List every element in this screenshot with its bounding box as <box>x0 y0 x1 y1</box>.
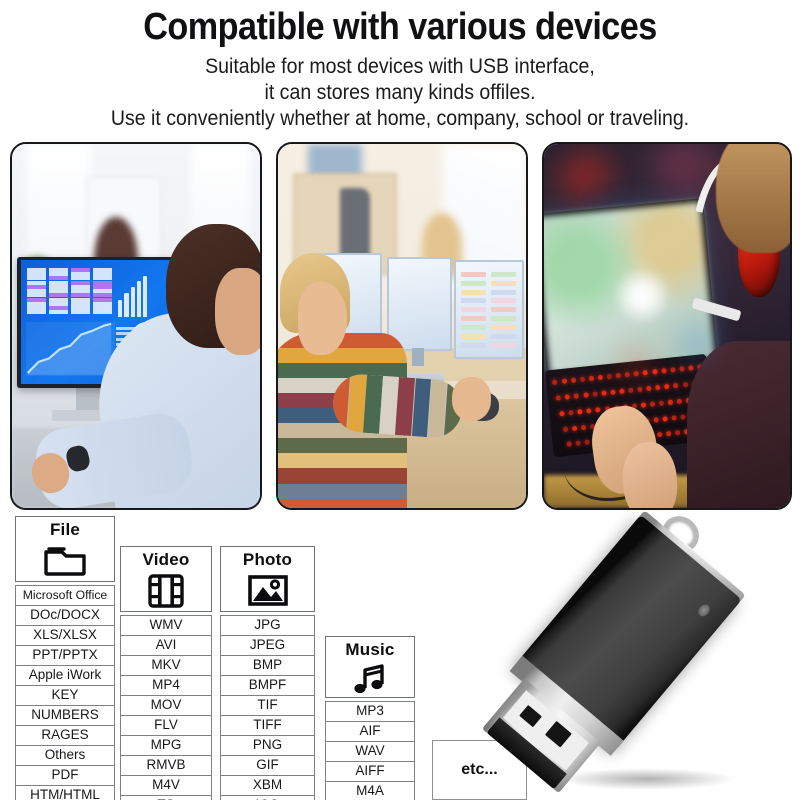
file-type-row: RMVB <box>120 755 212 775</box>
music-note-icon <box>351 663 389 700</box>
file-type-row: BMP <box>220 655 315 675</box>
file-type-column-video: Video WMVAVIMKVMP4MOVFLVMPGRMVBM4VTS3GR <box>120 546 212 800</box>
photo-column-caption: Photo <box>220 546 315 612</box>
header: Compatible with various devices Suitable… <box>0 0 800 132</box>
folder-icon <box>42 543 88 582</box>
page-title: Compatible with various devices <box>40 0 760 49</box>
file-type-row: AVI <box>120 635 212 655</box>
file-type-row: BMPF <box>220 675 315 695</box>
music-caption-label: Music <box>345 640 394 660</box>
file-type-row: M4V <box>120 775 212 795</box>
file-column-caption: File <box>15 516 115 582</box>
file-type-row: MP4 <box>120 675 212 695</box>
file-type-row: NUMBERS <box>15 705 115 725</box>
file-type-row: KEY <box>15 685 115 705</box>
file-type-row: Microsoft Office <box>15 585 115 605</box>
file-type-row: PDF <box>15 765 115 785</box>
subtitle: Suitable for most devices with USB inter… <box>28 49 772 132</box>
file-type-row: WAV <box>325 741 415 761</box>
file-type-row: XLS/XLSX <box>15 625 115 645</box>
image-icon <box>247 573 289 612</box>
file-type-row: MPG <box>120 735 212 755</box>
file-type-row: HTM/HTML <box>15 785 115 800</box>
file-type-row: JPEG <box>220 635 315 655</box>
product-marketing-image: Compatible with various devices Suitable… <box>0 0 800 800</box>
file-type-row: MKV <box>120 655 212 675</box>
file-type-row: XBM <box>220 775 315 795</box>
subtitle-line-3: Use it conveniently whether at home, com… <box>28 106 772 132</box>
file-type-row: TIF <box>220 695 315 715</box>
photo-gamer-rgb-setup <box>542 142 792 510</box>
music-column-caption: Music <box>325 636 415 698</box>
subtitle-line-1: Suitable for most devices with USB inter… <box>28 54 772 80</box>
subtitle-line-2: it can stores many kinds offiles. <box>28 80 772 106</box>
file-type-column-music: Music MP3AIFWAVAIFFM4AACC <box>325 636 415 800</box>
file-type-row: Others <box>15 745 115 765</box>
file-type-row: M4A <box>325 781 415 800</box>
file-type-row: TS <box>120 795 212 800</box>
file-type-row: MP3 <box>325 701 415 721</box>
file-type-column-photo: Photo JPGJPEGBMPBMPFTIFTIFFPNGGIFXBMICOC… <box>220 546 315 800</box>
music-column-rows: MP3AIFWAVAIFFM4AACC <box>325 701 415 800</box>
usb-led-indicator <box>696 602 712 618</box>
film-strip-icon <box>147 573 185 614</box>
file-type-row: MOV <box>120 695 212 715</box>
file-type-row: WMV <box>120 615 212 635</box>
photo-school-computer-lab <box>276 142 528 510</box>
video-column-rows: WMVAVIMKVMP4MOVFLVMPGRMVBM4VTS3GR <box>120 615 212 800</box>
file-type-row: PPT/PPTX <box>15 645 115 665</box>
file-type-row: PNG <box>220 735 315 755</box>
file-type-row: FLV <box>120 715 212 735</box>
photo-column-rows: JPGJPEGBMPBMPFTIFTIFFPNGGIFXBMICOCUR <box>220 615 315 800</box>
file-type-row: DOc/DOCX <box>15 605 115 625</box>
video-caption-label: Video <box>143 550 190 570</box>
file-type-row: GIF <box>220 755 315 775</box>
file-type-column-file: File Microsoft OfficeDOc/DOCXXLS/XLSXPPT… <box>15 516 115 800</box>
file-type-row: Apple iWork <box>15 665 115 685</box>
file-type-row: AIF <box>325 721 415 741</box>
file-column-rows: Microsoft OfficeDOc/DOCXXLS/XLSXPPT/PPTX… <box>15 585 115 800</box>
usb-flash-drive <box>468 520 798 800</box>
photo-caption-label: Photo <box>243 550 292 570</box>
video-column-caption: Video <box>120 546 212 612</box>
file-type-row: ICO <box>220 795 315 800</box>
file-type-row: JPG <box>220 615 315 635</box>
file-type-row: TIFF <box>220 715 315 735</box>
file-type-row: AIFF <box>325 761 415 781</box>
photo-gallery <box>10 142 792 510</box>
photo-office-worker-dashboard <box>10 142 262 510</box>
file-type-row: RAGES <box>15 725 115 745</box>
file-caption-label: File <box>50 520 80 540</box>
